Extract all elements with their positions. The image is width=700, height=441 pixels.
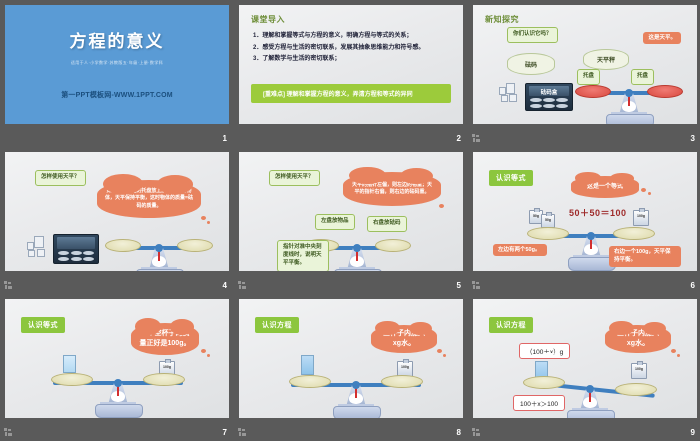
slide-title-9: 认识方程 <box>489 317 533 333</box>
slide-thumbnail-8[interactable]: 认识方程 空杯子内加入xg水。 100g 8 <box>235 295 467 440</box>
balance-scale <box>291 363 421 418</box>
slide-grid: 方程的意义 适用于人·小学数学·苏教版五·年级·上册·数学科 第一PPT模板网-… <box>0 0 700 441</box>
page-number: 2 <box>457 134 461 143</box>
page-number: 5 <box>457 281 461 290</box>
slide-thumbnail-7[interactable]: 认识等式 一个空杯子的质量正好是100g。 100g 7 <box>1 295 233 440</box>
answer-bubble: 这是天平。 <box>643 32 681 44</box>
slide-title-6: 认识等式 <box>489 170 533 186</box>
logo-watermark-icon <box>238 428 247 437</box>
page-number: 6 <box>691 281 695 290</box>
slide-thumbnail-9[interactable]: 认识方程 空杯子内加入xg水。 （100＋x）g 100g 100＋x＞100 … <box>469 295 700 440</box>
loose-weights-icon <box>27 234 49 256</box>
slide-footer-4: 4 <box>1 271 233 293</box>
question-bubble: 你们认识它吗？ <box>507 27 558 43</box>
slide-canvas-1: 方程的意义 适用于人·小学数学·苏教版五·年级·上册·数学科 第一PPT模板网-… <box>5 5 229 124</box>
slide-footer-1: 1 <box>1 124 233 146</box>
title-subtitle: 适用于人·小学数学·苏教版五·年级·上册·数学科 <box>5 60 229 66</box>
balance-note: 指针对准中央刻度线时，说明天平平衡。 <box>277 240 329 271</box>
pan-left <box>51 373 93 386</box>
slide-footer-3: 3 <box>469 124 700 146</box>
question-bubble: 怎样使用天平？ <box>269 170 320 186</box>
slide-canvas-4: 怎样使用天平？ 如果天平两边的托盘放上质量相同的物体，天平保持平衡，这时物体的质… <box>5 152 229 271</box>
balance-scale <box>53 361 183 418</box>
slide-thumbnail-6[interactable]: 认识等式 这是一个等式 50＋50＝100 50g 50g 100g 左边有两个… <box>469 148 700 293</box>
statement-cloud: 这是一个等式 <box>571 176 639 198</box>
loose-weights-icon <box>499 81 521 103</box>
pan-right <box>613 227 655 240</box>
logo-watermark-icon <box>4 281 13 290</box>
page-number: 3 <box>691 134 695 143</box>
slide-canvas-3: 新知探究 你们认识它吗？ 这是天平。 砝码 天平秤 托盘 托盘 砝码盒 <box>473 5 697 124</box>
pan-right <box>375 239 411 252</box>
note-right: 右边一个100g，天平保持平衡。 <box>609 246 681 267</box>
weight-box-label: 砝码盒 <box>526 88 572 96</box>
page-number: 7 <box>223 428 227 437</box>
logo-watermark-icon <box>472 281 481 290</box>
logo-watermark-icon <box>4 428 13 437</box>
slide-title-2: 课堂导入 <box>251 14 285 25</box>
pan-left <box>105 239 141 252</box>
logo-watermark-icon <box>472 428 481 437</box>
weights-label-cloud: 砝码 <box>507 53 555 75</box>
slide-title-7: 认识等式 <box>21 317 65 333</box>
slide-canvas-2: 课堂导入 1．理解和掌握等式与方程的意义，明确方程与等式的关系； 2．感受方程与… <box>239 5 463 124</box>
slide-footer-2: 2 <box>235 124 467 146</box>
pan-left <box>523 376 565 389</box>
slide-canvas-8: 认识方程 空杯子内加入xg水。 100g <box>239 299 463 418</box>
pan-right <box>177 239 213 252</box>
expression-box: （100＋x）g <box>519 343 570 359</box>
list-item: 2．感受方程与生活的密切联系，发展其抽象思维能力和符号感。 <box>253 43 453 55</box>
pan-right <box>381 375 423 388</box>
slide-canvas-5: 怎样使用天平？ 天平的指针左偏，则左边的物重；天平的指针右偏，则右边的砝码重。 … <box>239 152 463 271</box>
slide-thumbnail-3[interactable]: 新知探究 你们认识它吗？ 这是天平。 砝码 天平秤 托盘 托盘 砝码盒 <box>469 1 700 146</box>
slide-canvas-9: 认识方程 空杯子内加入xg水。 （100＋x）g 100g 100＋x＞100 <box>473 299 697 418</box>
page-number: 9 <box>691 428 695 437</box>
question-bubble: 怎样使用天平？ <box>35 170 86 186</box>
balance-scale <box>581 71 677 124</box>
slide-title-8: 认识方程 <box>255 317 299 333</box>
weight-box-icon: 砝码盒 <box>525 83 573 111</box>
explanation-cloud: 如果天平两边的托盘放上质量相同的物体，天平保持平衡，这时物体的质量=砝码的质量。 <box>97 180 201 218</box>
statement-cloud: 空杯子内加入xg水。 <box>605 325 671 353</box>
slide-thumbnail-1[interactable]: 方程的意义 适用于人·小学数学·苏教版五·年级·上册·数学科 第一PPT模板网-… <box>1 1 233 146</box>
inequality-box: 100＋x＞100 <box>513 395 565 411</box>
balance-scale <box>111 226 207 271</box>
slide-thumbnail-4[interactable]: 怎样使用天平？ 如果天平两边的托盘放上质量相同的物体，天平保持平衡，这时物体的质… <box>1 148 233 293</box>
statement-cloud: 空杯子内加入xg水。 <box>371 325 437 353</box>
pan-left <box>527 227 569 240</box>
pan-right <box>143 373 185 386</box>
balance-label-cloud: 天平秤 <box>583 49 629 70</box>
logo-watermark-icon <box>238 281 247 290</box>
page-number: 4 <box>223 281 227 290</box>
pan-left <box>289 375 331 388</box>
objective-list: 1．理解和掌握等式与方程的意义，明确方程与等式的关系； 2．感受方程与生活的密切… <box>253 31 453 66</box>
weight-box-icon <box>53 234 99 264</box>
page-title: 方程的意义 <box>5 27 229 52</box>
slide-footer-6: 6 <box>469 271 700 293</box>
list-item: 3．了解数学与生活的密切联系； <box>253 54 453 66</box>
pan-right <box>647 85 683 98</box>
note-left: 左边有两个50g。 <box>493 244 547 256</box>
slide-footer-5: 5 <box>235 271 467 293</box>
statement-cloud: 一个空杯子的质量正好是100g。 <box>131 323 199 355</box>
slide-thumbnail-5[interactable]: 怎样使用天平？ 天平的指针左偏，则左边的物重；天平的指针右偏，则右边的砝码重。 … <box>235 148 467 293</box>
pan-left <box>575 85 611 98</box>
slide-canvas-7: 认识等式 一个空杯子的质量正好是100g。 100g <box>5 299 229 418</box>
slide-title-3: 新知探究 <box>485 14 519 25</box>
key-point-banner: [重难点] 理解和掌握方程的意义，弄清方程和等式的异同 <box>251 84 451 103</box>
site-credit: 第一PPT模板网-WWW.1PPT.COM <box>5 90 229 100</box>
list-item: 1．理解和掌握等式与方程的意义，明确方程与等式的关系； <box>253 31 453 43</box>
page-number: 8 <box>457 428 461 437</box>
slide-canvas-6: 认识等式 这是一个等式 50＋50＝100 50g 50g 100g 左边有两个… <box>473 152 697 271</box>
key-point-text: [重难点] 理解和掌握方程的意义，弄清方程和等式的异同 <box>251 89 413 98</box>
page-number: 1 <box>223 134 227 143</box>
slide-thumbnail-2[interactable]: 课堂导入 1．理解和掌握等式与方程的意义，明确方程与等式的关系； 2．感受方程与… <box>235 1 467 146</box>
pan-right <box>615 383 657 396</box>
explanation-cloud: 天平的指针左偏，则左边的物重；天平的指针右偏，则右边的砝码重。 <box>343 172 441 206</box>
logo-watermark-icon <box>472 134 481 143</box>
